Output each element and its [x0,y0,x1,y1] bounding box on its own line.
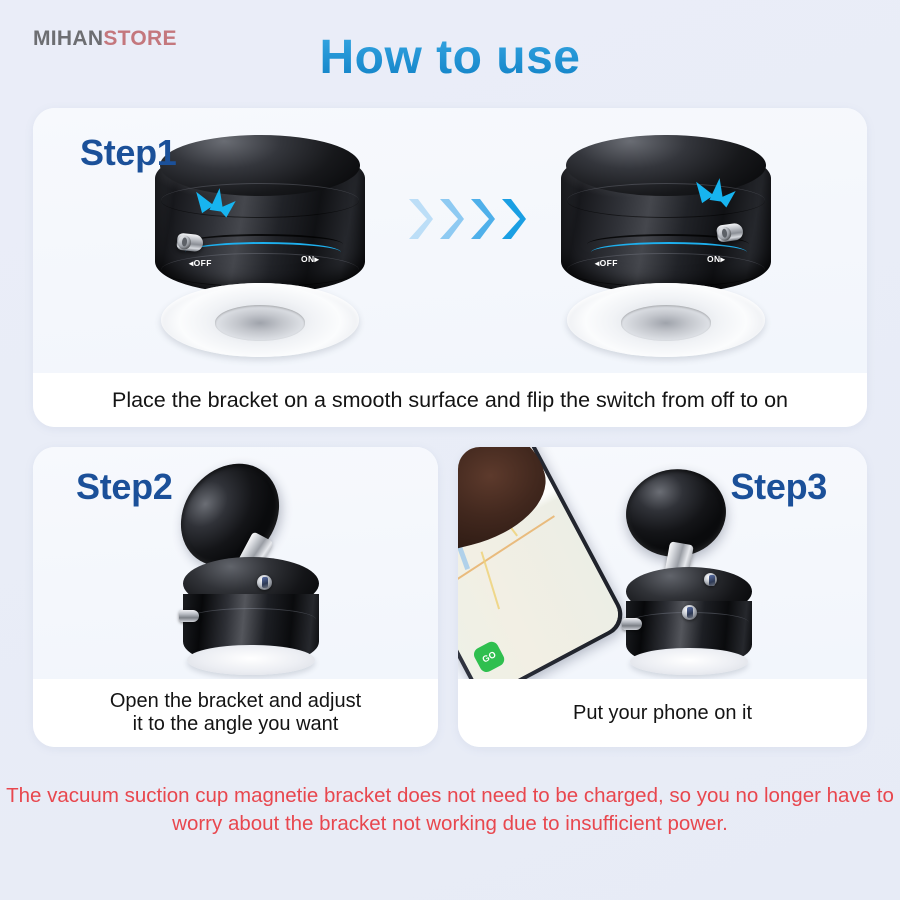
bracket-open [181,461,321,673]
chevron-icon-4 [500,196,526,242]
switch-off-label: ◂OFF [189,258,212,269]
step1-caption: Place the bracket on a smooth surface an… [33,373,867,427]
base-suction-foot [630,648,748,676]
switch-knob-off[interactable] [176,233,204,253]
step2-label: Step2 [76,466,173,508]
map-road [481,551,500,609]
step-card-1: ◂OFF ON▸ [33,108,867,427]
page-title: How to use [0,30,900,85]
step2-caption-line1: Open the bracket and adjust [110,690,361,713]
step3-label: Step3 [730,466,827,508]
step2-caption-line2: it to the angle you want [110,713,361,736]
suction-puck-on: ◂OFF ON▸ [561,146,771,351]
hinge-screw [257,575,272,590]
bracket-base [626,567,752,673]
switch-on-label: ON▸ [301,254,319,265]
switch-off-label: ◂OFF [595,258,618,269]
step2-caption: Open the bracket and adjust it to the an… [33,679,438,747]
step3-caption: Put your phone on it [458,679,867,747]
chevron-icon-3 [469,196,495,242]
step1-label: Step1 [80,132,177,174]
suction-cup-texture [226,310,293,329]
footnote: The vacuum suction cup magnetie bracket … [0,782,900,839]
transition-arrows [407,196,526,242]
suction-cup-texture [632,310,699,329]
suction-cup-base [567,283,764,357]
hinge-screw [682,605,697,620]
switch-highlight-arrows [689,178,745,220]
base-suction-foot [187,645,315,675]
suction-puck-off: ◂OFF ON▸ [155,146,365,351]
switch-on-label: ON▸ [707,254,725,265]
base-switch-knob[interactable] [622,618,642,630]
step-card-3: GO Step3 Put your phone on it [458,447,867,747]
base-switch-knob[interactable] [179,610,199,622]
suction-cup-base [161,283,358,357]
chevron-icon-1 [407,196,433,242]
step-card-2: Step2 Open the bracket and adjust it to … [33,447,438,747]
chevron-icon-2 [438,196,464,242]
switch-highlight-arrows [189,188,245,230]
bracket-base [183,557,319,673]
hinge-screw-secondary [704,573,717,586]
